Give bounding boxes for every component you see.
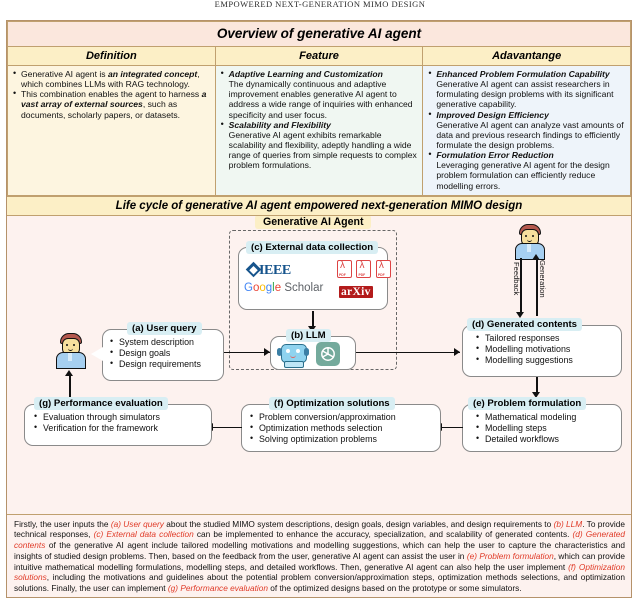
arxiv-logo: arXiv: [339, 282, 373, 300]
figure-caption: Firstly, the user inputs the (a) User qu…: [7, 514, 631, 597]
robot-icon: [278, 342, 308, 366]
advantage-text-1: Generative AI agent can analyze vast amo…: [436, 120, 626, 150]
list-item: Enhanced Problem Formulation Capability …: [436, 69, 626, 110]
list-item: Design requirements: [108, 359, 220, 370]
list-item: This combination enables the agent to ha…: [21, 89, 211, 119]
list-item: Adaptive Learning and Customization The …: [229, 69, 419, 120]
definition-text-1a: This combination enables the agent to ha…: [21, 89, 202, 99]
caption-seg: can be implemented to enhance the accura…: [194, 529, 573, 539]
list-item: Modelling motivations: [474, 344, 620, 355]
advantage-list: Enhanced Problem Formulation Capability …: [427, 69, 626, 191]
arrow-b-to-d-line: [356, 352, 460, 354]
generated-contents-list: Tailored responses Modelling motivations…: [474, 333, 620, 367]
table-title-row: Overview of generative AI agent: [8, 22, 631, 47]
user-avatar-left: [55, 333, 85, 367]
google-scholar-logo: Google Scholar: [244, 282, 323, 294]
feature-list: Adaptive Learning and Customization The …: [220, 69, 419, 170]
figure-page: EMPOWERED NEXT-GENERATION MIMO DESIGN Ov…: [0, 0, 640, 603]
column-header-definition: Definition: [8, 47, 216, 66]
caption-ref-c: (c) External data collection: [94, 529, 194, 539]
arrow-b-to-d-head: [454, 348, 460, 356]
list-item: Optimization methods selection: [248, 423, 438, 434]
list-item: Scalability and Flexibility Generative A…: [229, 120, 419, 171]
label-problem-formulation: (e) Problem formulation: [468, 397, 586, 410]
list-item: Improved Design Efficiency Generative AI…: [436, 110, 626, 151]
list-item: System description: [108, 337, 220, 348]
definition-list: Generative AI agent is an integrated con…: [12, 69, 211, 120]
list-item: Verification for the framework: [32, 423, 210, 434]
overview-table: Overview of generative AI agent Definiti…: [7, 21, 631, 196]
definition-bold-0: an integrated concept: [108, 69, 197, 79]
list-item: Formulation Error Reduction Leveraging g…: [436, 150, 626, 191]
feature-heading-1: Scalability and Flexibility: [229, 120, 331, 130]
label-external-data-collection: (c) External data collection: [246, 241, 378, 254]
label-feedback: Feedback: [512, 262, 521, 295]
running-head: EMPOWERED NEXT-GENERATION MIMO DESIGN: [0, 0, 640, 9]
pdf-icon: [337, 260, 352, 278]
advantage-heading-1: Improved Design Efficiency: [436, 110, 549, 120]
arrow-a-to-b-head: [264, 348, 270, 356]
cell-definition: Generative AI agent is an integrated con…: [8, 66, 216, 196]
advantage-heading-2: Formulation Error Reduction: [436, 150, 553, 160]
label-optimization-solutions: (f) Optimization solutions: [269, 397, 395, 410]
arrow-e-to-f-line: [441, 427, 463, 429]
problem-formulation-list: Mathematical modeling Modelling steps De…: [474, 412, 620, 446]
caption-seg: about the studied MIMO system descriptio…: [164, 519, 554, 529]
advantage-text-2: Leveraging generative AI agent for the d…: [436, 160, 626, 190]
cell-advantage: Enhanced Problem Formulation Capability …: [423, 66, 631, 196]
caption-ref-b: (b) LLM: [554, 519, 583, 529]
list-item: Mathematical modeling: [474, 412, 620, 423]
label-performance-evaluation: (g) Performance evaluation: [34, 397, 168, 410]
list-item: Modelling suggestions: [474, 355, 620, 366]
list-item: Modelling steps: [474, 423, 620, 434]
pdf-icon: [356, 260, 371, 278]
pdf-icon-group: [337, 260, 391, 278]
openai-icon: [316, 342, 340, 366]
column-header-advantage: Adavantange: [423, 47, 631, 66]
label-generated-contents: (d) Generated contents: [467, 318, 582, 331]
advantage-text-0: Generative AI agent can assist researche…: [436, 79, 626, 109]
speech-tail: [91, 347, 103, 361]
performance-evaluation-list: Evaluation through simulators Verificati…: [32, 412, 210, 434]
lifecycle-banner: Life cycle of generative AI agent empowe…: [7, 196, 631, 216]
advantage-heading-0: Enhanced Problem Formulation Capability: [436, 69, 609, 79]
figure-frame: Overview of generative AI agent Definiti…: [6, 20, 632, 598]
user-avatar-right: [514, 224, 544, 258]
definition-text-0a: Generative AI agent is: [21, 69, 108, 79]
feature-text-0: The dynamically continuous and adaptive …: [229, 79, 419, 120]
column-header-feature: Feature: [215, 47, 423, 66]
lifecycle-diagram: Generative AI Agent (c) External data co…: [7, 216, 631, 463]
list-item: Generative AI agent is an integrated con…: [21, 69, 211, 89]
caption-seg: of the optimized designs based on the pr…: [268, 583, 522, 593]
ieee-logo: IEEE: [248, 261, 291, 279]
list-item: Detailed workflows: [474, 434, 620, 445]
optimization-solutions-list: Problem conversion/approximation Optimiz…: [248, 412, 438, 446]
table-body-row: Generative AI agent is an integrated con…: [8, 66, 631, 196]
list-item: Tailored responses: [474, 333, 620, 344]
list-item: Evaluation through simulators: [32, 412, 210, 423]
caption-ref-g: (g) Performance evaluation: [168, 583, 268, 593]
arrow-f-to-g-line: [212, 427, 242, 429]
label-user-query: (a) User query: [127, 322, 202, 335]
arrow-c-to-b-line: [312, 311, 314, 327]
list-item: Solving optimization problems: [248, 434, 438, 445]
label-generation: Generation: [538, 260, 547, 298]
feature-text-1: Generative AI agent exhibits remarkable …: [229, 130, 419, 171]
cell-feature: Adaptive Learning and Customization The …: [215, 66, 423, 196]
arrow-g-to-user-head: [65, 370, 73, 376]
feature-heading-0: Adaptive Learning and Customization: [229, 69, 383, 79]
label-llm: (b) LLM: [286, 329, 331, 342]
list-item: Design goals: [108, 348, 220, 359]
arrow-feedback-head: [516, 312, 524, 318]
caption-ref-a: (a) User query: [111, 519, 164, 529]
table-title: Overview of generative AI agent: [8, 22, 631, 47]
table-header-row: Definition Feature Adavantange: [8, 47, 631, 66]
list-item: Problem conversion/approximation: [248, 412, 438, 423]
pdf-icon: [376, 260, 391, 278]
user-query-list: System description Design goals Design r…: [108, 337, 220, 371]
caption-ref-e: (e) Problem formulation: [467, 551, 554, 561]
generative-ai-agent-title: Generative AI Agent: [255, 216, 371, 229]
caption-seg: Firstly, the user inputs the: [14, 519, 111, 529]
